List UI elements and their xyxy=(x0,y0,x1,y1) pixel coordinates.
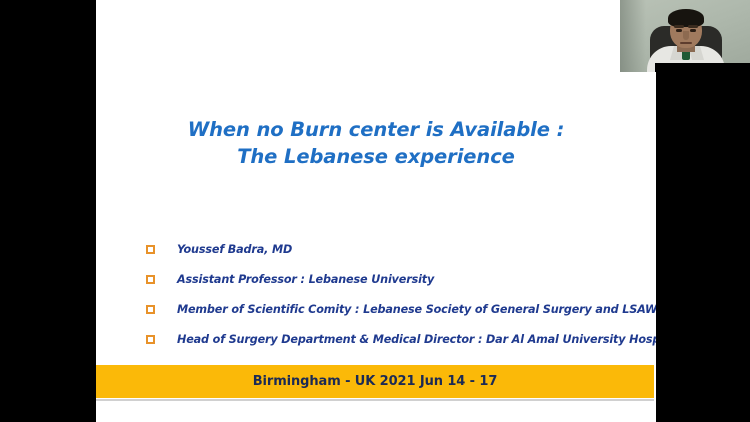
square-bullet-icon xyxy=(146,305,155,314)
square-bullet-icon xyxy=(146,275,155,284)
list-item: Member of Scientific Comity : Lebanese S… xyxy=(146,294,656,324)
left-letterbox-bar xyxy=(0,0,96,422)
slide-bullet-list: Youssef Badra, MD Assistant Professor : … xyxy=(146,234,656,354)
list-item-label: Member of Scientific Comity : Lebanese S… xyxy=(177,303,656,316)
slide-footer-text: Birmingham - UK 2021 Jun 14 - 17 xyxy=(253,374,498,389)
footer-divider xyxy=(96,399,654,401)
webcam-eye-right xyxy=(690,29,696,32)
list-item-label: Assistant Professor : Lebanese Universit… xyxy=(177,273,434,286)
slide-footer-banner: Birmingham - UK 2021 Jun 14 - 17 xyxy=(96,365,654,398)
list-item-label: Youssef Badra, MD xyxy=(177,243,292,256)
webcam-wall-shadow xyxy=(620,0,646,72)
webcam-eyebrow-left xyxy=(674,25,684,28)
square-bullet-icon xyxy=(146,335,155,344)
screen-share-viewport: When no Burn center is Available : The L… xyxy=(0,0,750,422)
slide-title-line-2: The Lebanese experience xyxy=(96,145,656,170)
webcam-eyebrow-right xyxy=(688,25,698,28)
webcam-person-hair xyxy=(668,9,704,27)
webcam-mouth xyxy=(680,42,692,44)
list-item: Head of Surgery Department & Medical Dir… xyxy=(146,324,656,354)
webcam-nose xyxy=(683,31,689,40)
webcam-eye-left xyxy=(676,29,682,32)
list-item-label: Head of Surgery Department & Medical Dir… xyxy=(177,333,656,346)
webcam-lower-black-band xyxy=(655,63,750,72)
presentation-slide: When no Burn center is Available : The L… xyxy=(96,0,656,422)
list-item: Youssef Badra, MD xyxy=(146,234,656,264)
square-bullet-icon xyxy=(146,245,155,254)
slide-title-line-1: When no Burn center is Available : xyxy=(96,118,656,143)
list-item: Assistant Professor : Lebanese Universit… xyxy=(146,264,656,294)
speaker-video-thumbnail[interactable] xyxy=(620,0,750,72)
slide-title: When no Burn center is Available : The L… xyxy=(96,118,656,170)
